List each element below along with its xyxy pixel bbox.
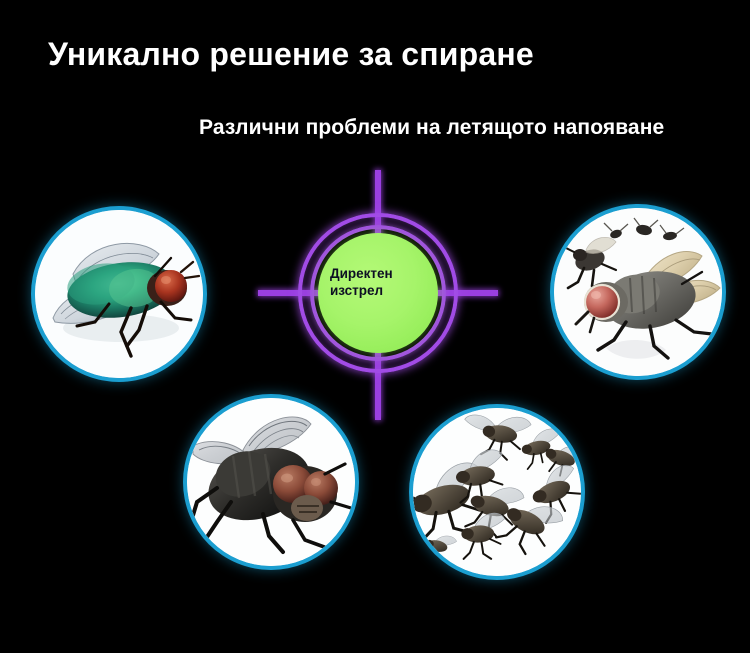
large-dark-fly-closeup-image: [187, 398, 355, 566]
house-fly-with-swarm-image: [554, 208, 722, 376]
fly-photo-top-left[interactable]: [35, 210, 203, 378]
page-title: Уникално решение за спиране: [48, 36, 534, 73]
fly-photo-bottom-left[interactable]: [187, 398, 355, 566]
fly-photo-top-right[interactable]: [554, 208, 722, 376]
green-bottle-fly-image: [35, 210, 203, 378]
page-subtitle: Различни проблеми на летящото напояване: [199, 116, 664, 140]
poster-canvas: Уникално решение за спиране Различни про…: [0, 0, 750, 653]
crosshair-target: Директен изстрел: [258, 170, 498, 420]
fly-photo-bottom-right[interactable]: [413, 408, 581, 576]
target-label-line-1: Директен: [330, 265, 438, 282]
target-label-line-2: изстрел: [330, 282, 438, 299]
target-center-label: Директен изстрел: [330, 265, 438, 300]
fly-swarm-image: [413, 408, 581, 576]
